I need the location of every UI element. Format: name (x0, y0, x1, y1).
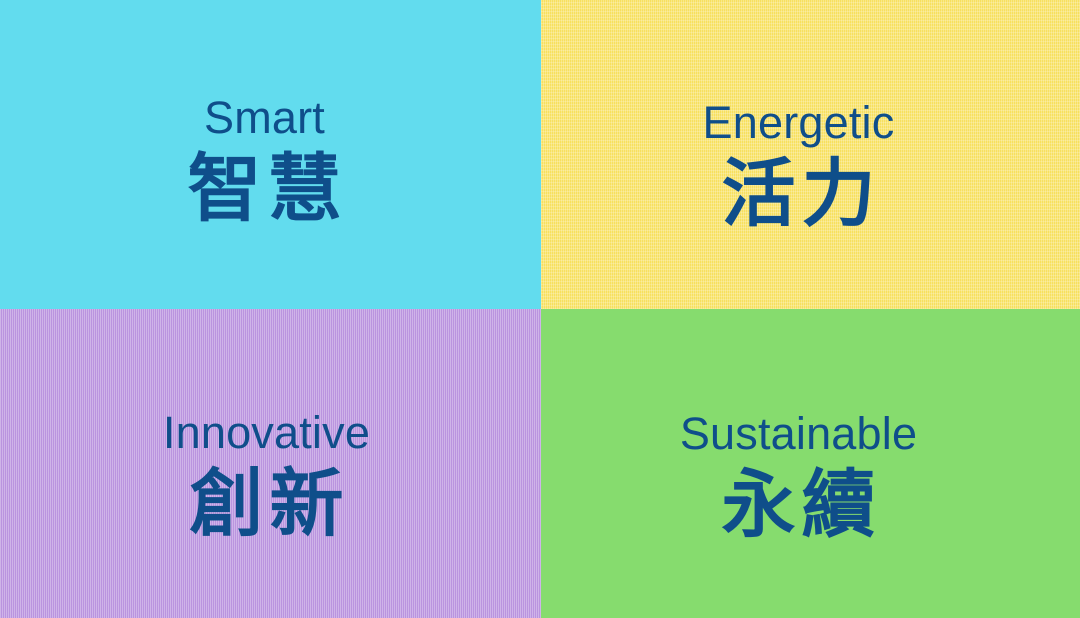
value-label-en-energetic: Energetic (541, 100, 1068, 145)
value-text-inner: Innovative 創新 (0, 410, 537, 541)
value-text-block-energetic: Energetic 活力 (541, 100, 1080, 231)
value-label-zh-energetic: 活力 (541, 157, 1068, 231)
quadrant-sustainable[interactable]: Sustainable 永續 (541, 309, 1080, 618)
quadrant-smart[interactable]: Smart 智慧 (0, 0, 541, 309)
value-label-en-sustainable: Sustainable (541, 411, 1068, 456)
value-text-inner: Energetic 活力 (541, 100, 1068, 231)
value-label-zh-sustainable: 永續 (541, 468, 1068, 542)
value-text-block-sustainable: Sustainable 永續 (541, 411, 1080, 542)
value-quadrant-grid: Smart 智慧 Energetic 活力 Innovative 創新 (0, 0, 1080, 618)
value-text-block-smart: Smart 智慧 (0, 95, 541, 226)
value-text-inner: Smart 智慧 (0, 95, 535, 226)
quadrant-energetic[interactable]: Energetic 活力 (541, 0, 1080, 309)
value-text-inner: Sustainable 永續 (541, 411, 1068, 542)
brand-values-canvas: Smart 智慧 Energetic 活力 Innovative 創新 (0, 0, 1080, 618)
quadrant-innovative[interactable]: Innovative 創新 (0, 309, 541, 618)
value-text-block-innovative: Innovative 創新 (0, 410, 541, 541)
value-label-en-innovative: Innovative (0, 410, 537, 455)
value-label-en-smart: Smart (0, 95, 535, 140)
value-label-zh-smart: 智慧 (0, 152, 535, 226)
value-label-zh-innovative: 創新 (0, 467, 537, 541)
